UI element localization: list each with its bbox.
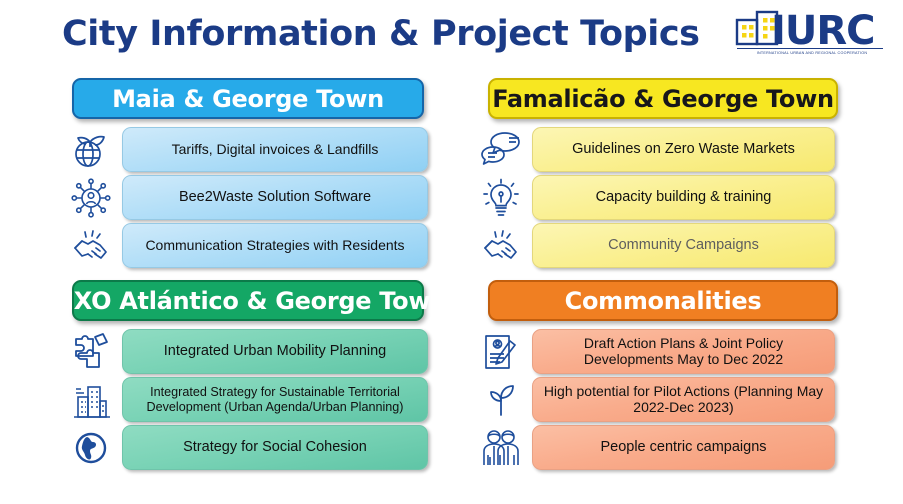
lightbulb-icon xyxy=(470,174,532,221)
section-items-maia-george-town: Tariffs, Digital invoices & Landfills Be… xyxy=(60,126,440,269)
item-text: Communication Strategies with Residents xyxy=(122,223,428,268)
right-column: Famalicão & George Town Guidelines on Ze… xyxy=(470,78,850,472)
svg-text:IURC: IURC xyxy=(771,8,875,50)
list-item[interactable]: High potential for Pilot Actions (Planni… xyxy=(470,376,850,423)
list-item[interactable]: Tariffs, Digital invoices & Landfills xyxy=(60,126,440,173)
section-items-eixo-atlantico-george-town: Integrated Urban Mobility Planning Integ… xyxy=(60,328,440,471)
item-text: Strategy for Social Cohesion xyxy=(122,425,428,470)
buildings-icon xyxy=(60,376,122,423)
list-item[interactable]: Bee2Waste Solution Software xyxy=(60,174,440,221)
list-item[interactable]: Guidelines on Zero Waste Markets xyxy=(470,126,850,173)
logo-tagline: INTERNATIONAL URBAN AND REGIONAL COOPERA… xyxy=(741,51,883,55)
slide-header: City Information & Project Topics IURC I… xyxy=(0,0,903,72)
item-text: Guidelines on Zero Waste Markets xyxy=(532,127,835,172)
section-header-eixo-atlantico-george-town: EIXO Atlántico & George Town xyxy=(72,280,424,321)
list-item[interactable]: People centric campaigns xyxy=(470,424,850,471)
page-title: City Information & Project Topics xyxy=(62,14,700,54)
sprout-icon xyxy=(470,376,532,423)
item-text: High potential for Pilot Actions (Planni… xyxy=(532,377,835,422)
section-header-maia-george-town: Maia & George Town xyxy=(72,78,424,119)
item-text: People centric campaigns xyxy=(532,425,835,470)
item-text: Tariffs, Digital invoices & Landfills xyxy=(122,127,428,172)
puzzle-icon xyxy=(60,328,122,375)
list-item[interactable]: Strategy for Social Cohesion xyxy=(60,424,440,471)
item-text: Community Campaigns xyxy=(532,223,835,268)
list-item[interactable]: Integrated Strategy for Sustainable Terr… xyxy=(60,376,440,423)
section-items-commonalities: Draft Action Plans & Joint Policy Develo… xyxy=(470,328,850,471)
document-pencil-icon xyxy=(470,328,532,375)
two-people-icon xyxy=(470,424,532,471)
item-text: Capacity building & training xyxy=(532,175,835,220)
item-text: Bee2Waste Solution Software xyxy=(122,175,428,220)
item-text: Integrated Urban Mobility Planning xyxy=(122,329,428,374)
logo-wordmark-icon: IURC xyxy=(723,6,883,50)
list-item[interactable]: Draft Action Plans & Joint Policy Develo… xyxy=(470,328,850,375)
list-item[interactable]: Communication Strategies with Residents xyxy=(60,222,440,269)
globe-leaf-icon xyxy=(60,126,122,173)
list-item[interactable]: Community Campaigns xyxy=(470,222,850,269)
handshake-icon xyxy=(60,222,122,269)
section-header-commonalities: Commonalities xyxy=(488,280,838,321)
list-item[interactable]: Integrated Urban Mobility Planning xyxy=(60,328,440,375)
item-text: Integrated Strategy for Sustainable Terr… xyxy=(122,377,428,422)
speech-bubbles-icon xyxy=(470,126,532,173)
handshake-icon xyxy=(470,222,532,269)
globe-icon xyxy=(60,424,122,471)
section-items-famalicao-george-town: Guidelines on Zero Waste Markets Capacit… xyxy=(470,126,850,269)
item-text: Draft Action Plans & Joint Policy Develo… xyxy=(532,329,835,374)
iurc-logo: IURC INTERNATIONAL URBAN AND REGIONAL CO… xyxy=(723,6,883,56)
section-header-famalicao-george-town: Famalicão & George Town xyxy=(488,78,838,119)
logo-divider xyxy=(737,48,883,49)
left-column: Maia & George Town Tariffs, Digital invo… xyxy=(60,78,440,472)
network-person-icon xyxy=(60,174,122,221)
list-item[interactable]: Capacity building & training xyxy=(470,174,850,221)
